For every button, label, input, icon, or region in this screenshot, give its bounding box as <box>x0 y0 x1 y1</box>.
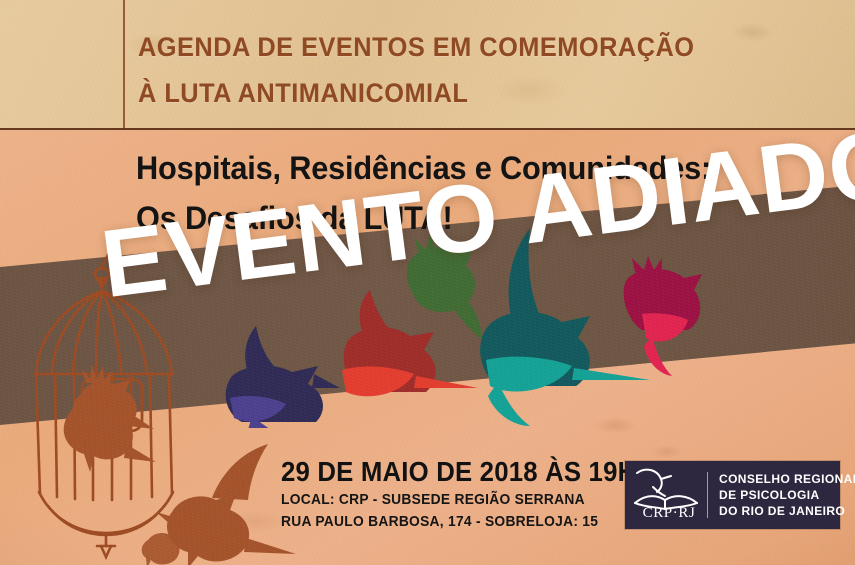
bird-over-book-icon: CRP·RJ <box>625 461 707 529</box>
logo-line-2: DE PSICOLOGIA <box>719 487 855 503</box>
poster-header: AGENDA DE EVENTOS EM COMEMORAÇÃO À LUTA … <box>138 24 778 116</box>
logo-line-1: CONSELHO REGIONAL <box>719 471 855 487</box>
logo-line-3: DO RIO DE JANEIRO <box>719 503 855 519</box>
header-horizontal-rule <box>0 128 855 130</box>
event-date: 29 DE MAIO DE 2018 ÀS 19H <box>281 455 636 489</box>
header-line-2: À LUTA ANTIMANICOMIAL <box>138 70 740 116</box>
logo-text-block: CONSELHO REGIONAL DE PSICOLOGIA DO RIO D… <box>708 471 855 519</box>
event-details: 29 DE MAIO DE 2018 ÀS 19H LOCAL: CRP - S… <box>281 455 667 533</box>
event-poster: AGENDA DE EVENTOS EM COMEMORAÇÃO À LUTA … <box>0 0 855 565</box>
header-vertical-rule <box>123 0 125 129</box>
event-location-line-2: RUA PAULO BARBOSA, 174 - SOBRELOJA: 15 <box>281 511 636 533</box>
header-line-1: AGENDA DE EVENTOS EM COMEMORAÇÃO <box>138 24 740 70</box>
crp-rj-wordmark: CRP·RJ <box>633 505 705 522</box>
crp-rj-logo: CRP·RJ CONSELHO REGIONAL DE PSICOLOGIA D… <box>625 461 840 529</box>
event-location-line-1: LOCAL: CRP - SUBSEDE REGIÃO SERRANA <box>281 489 636 511</box>
